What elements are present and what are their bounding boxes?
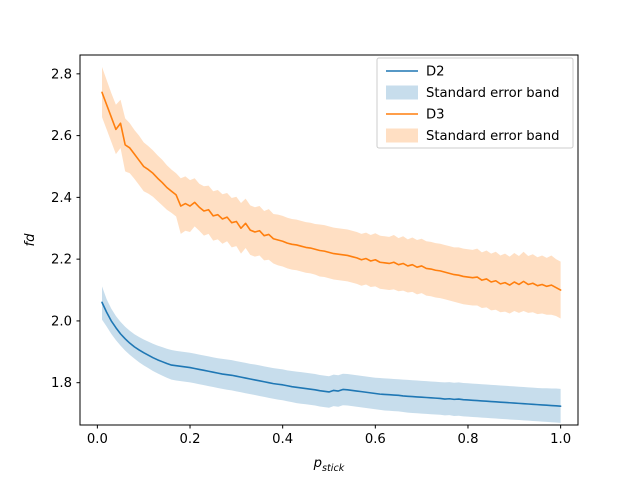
y-tick-label: 1.8 bbox=[51, 376, 72, 391]
legend-label: D2 bbox=[426, 65, 445, 80]
x-tick-label: 0.0 bbox=[87, 432, 108, 447]
x-axis-label: pstick bbox=[313, 456, 345, 474]
y-tick-label: 2.8 bbox=[51, 67, 72, 82]
chart-legend[interactable]: D2Standard error bandD3Standard error ba… bbox=[377, 58, 573, 148]
x-tick-label: 0.8 bbox=[457, 432, 478, 447]
y-tick-label: 2.0 bbox=[51, 314, 72, 329]
legend-band-swatch bbox=[386, 129, 418, 143]
x-tick-label: 0.4 bbox=[272, 432, 293, 447]
y-tick-label: 2.2 bbox=[51, 253, 72, 268]
x-tick-label: 0.6 bbox=[365, 432, 386, 447]
legend-band-swatch bbox=[386, 86, 418, 100]
x-tick-label: 0.2 bbox=[180, 432, 201, 447]
matplotlib-figure: 0.00.20.40.60.81.01.82.02.22.42.62.8 pst… bbox=[0, 0, 640, 480]
legend-label: Standard error band bbox=[426, 86, 559, 101]
y-tick-label: 2.6 bbox=[51, 129, 72, 144]
y-tick-label: 2.4 bbox=[51, 191, 72, 206]
legend-label: Standard error band bbox=[426, 129, 559, 144]
legend-label: D3 bbox=[426, 108, 445, 123]
chart-canvas: 0.00.20.40.60.81.01.82.02.22.42.62.8 pst… bbox=[0, 0, 640, 480]
x-tick-label: 1.0 bbox=[550, 432, 571, 447]
y-axis-label: fd bbox=[23, 233, 38, 247]
